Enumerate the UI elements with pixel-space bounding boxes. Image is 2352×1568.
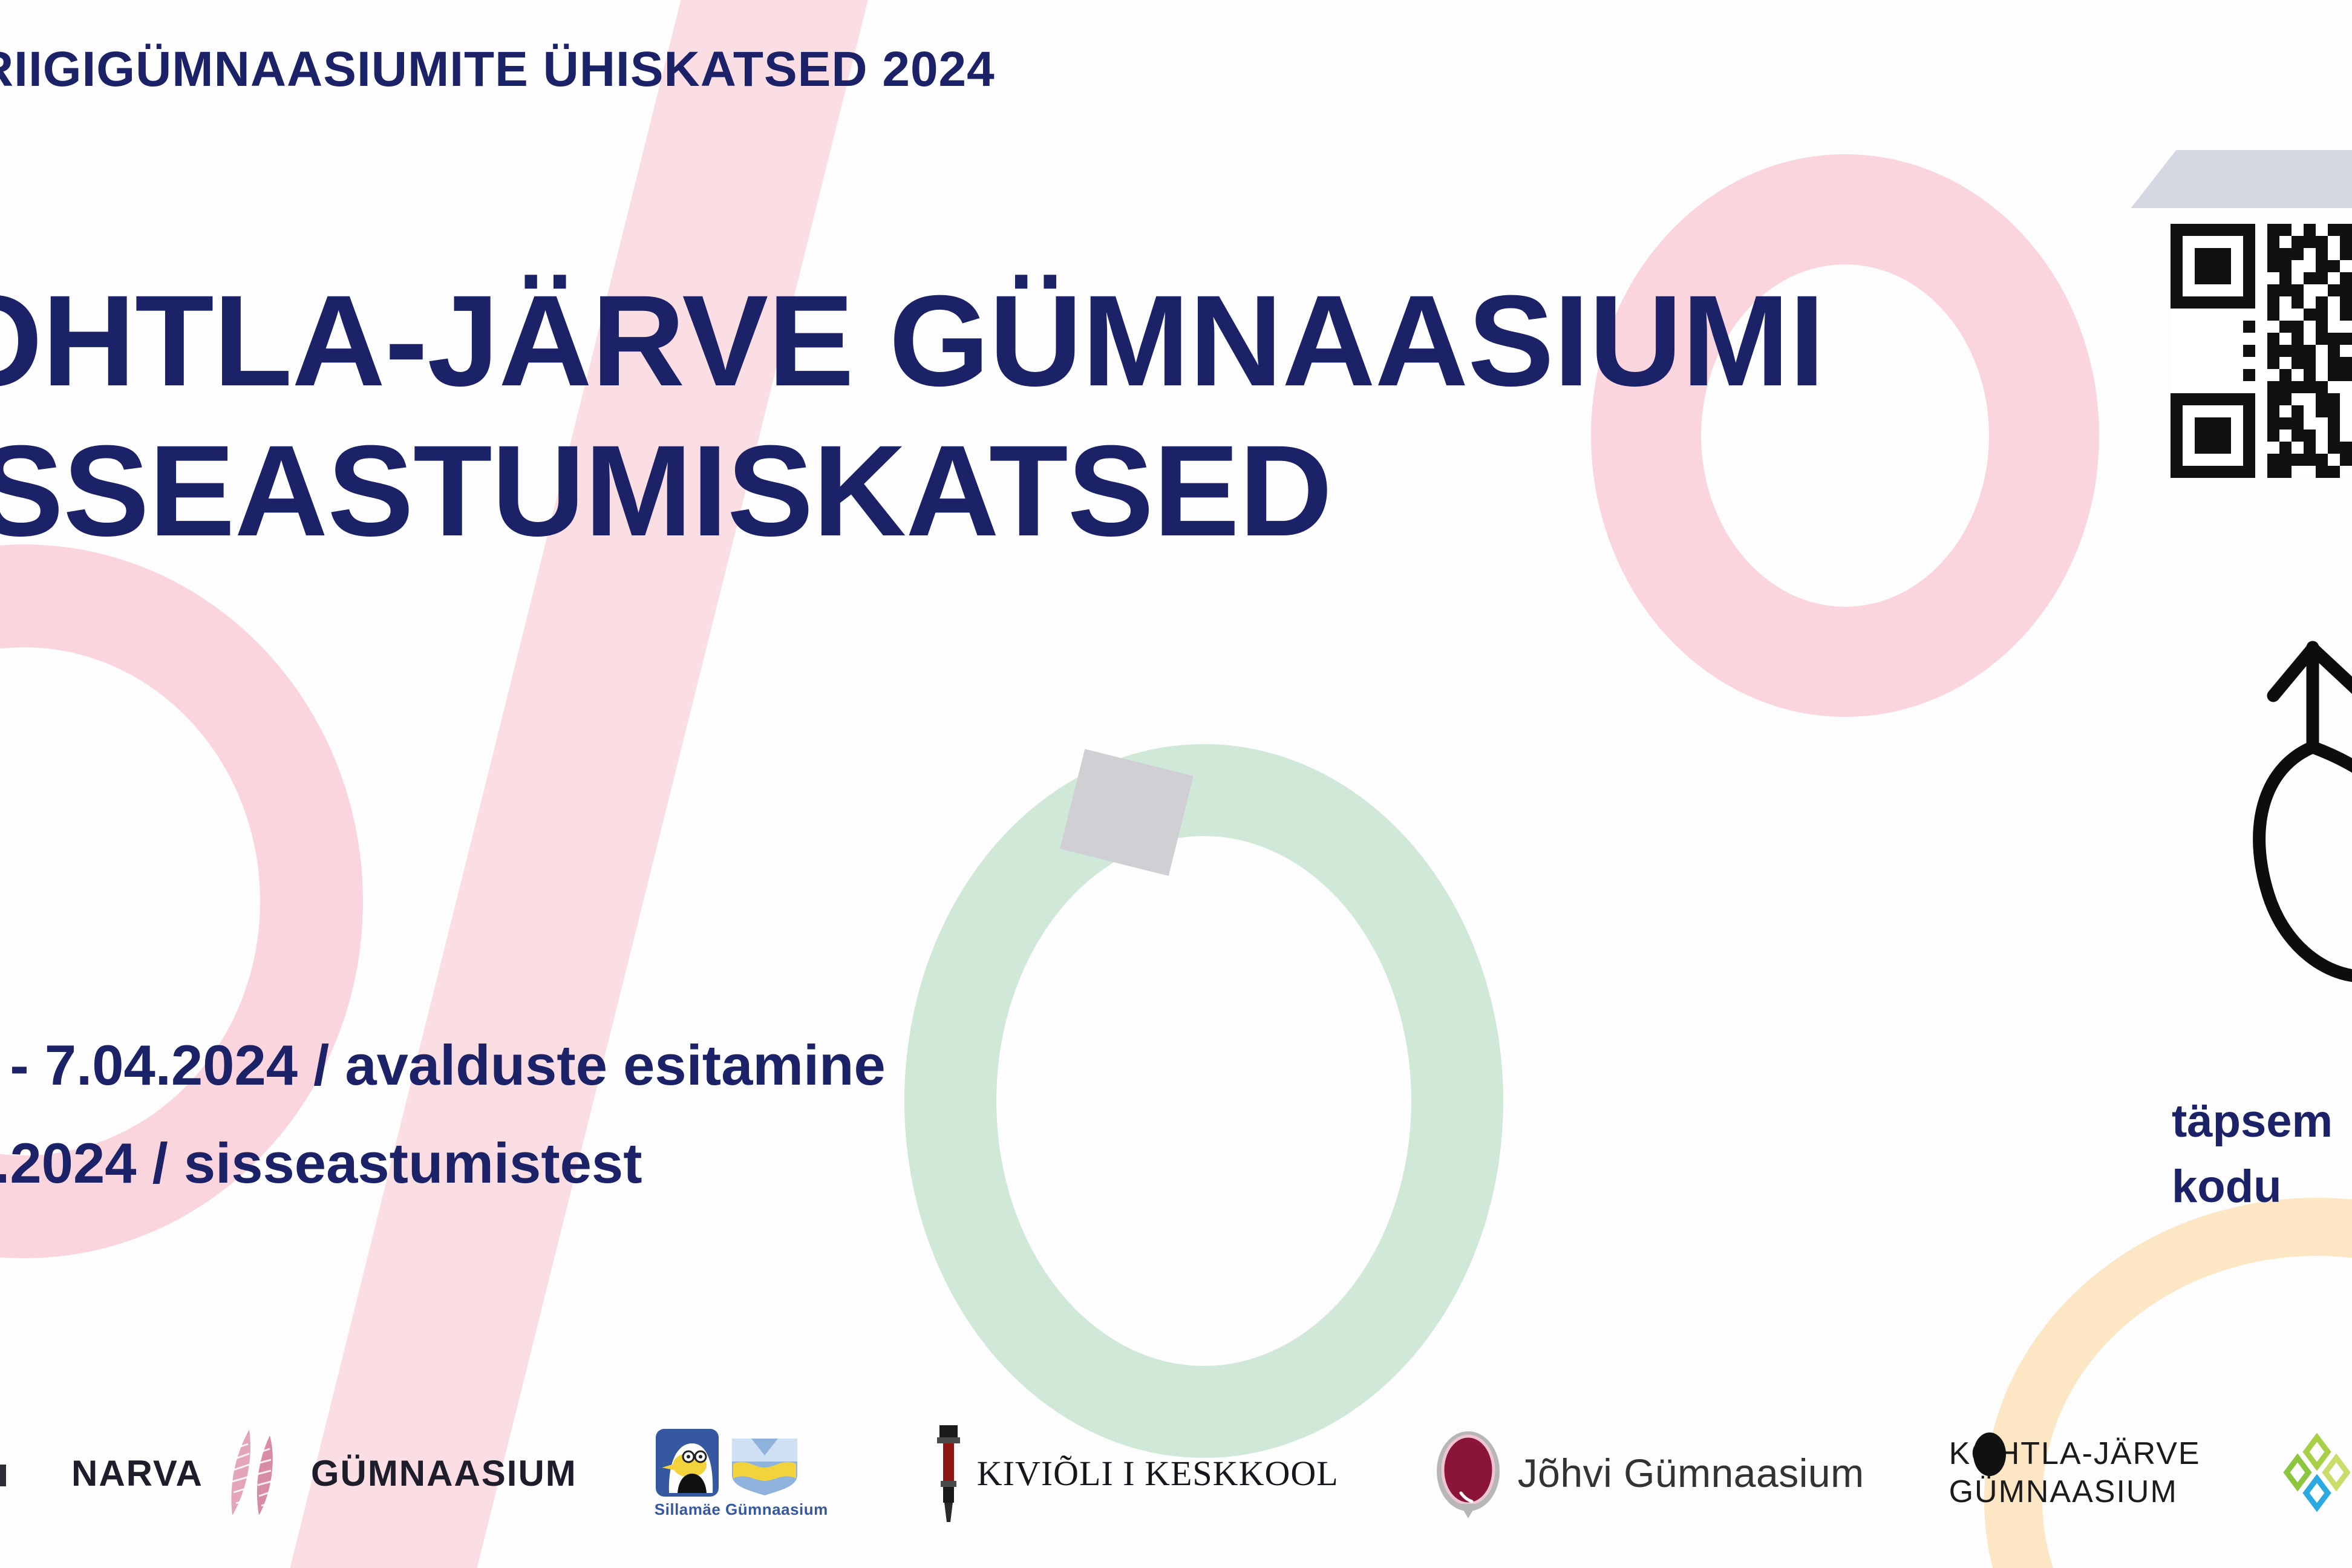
kivioli-i-keskkool-logo: KIVIÕLI I KESKKOOL xyxy=(930,1422,1339,1524)
partner-logo-strip: NARVA GÜMNAASIUM xyxy=(0,1403,2352,1543)
kicker-line: A RIIGIGÜMNAASIUMITE ÜHISKATSED 2024 xyxy=(0,41,995,98)
headline-line-1: OHTLA-JÄRVE GÜMNAASIUMI xyxy=(0,269,1824,413)
narva-logo-text-before: NARVA xyxy=(71,1452,203,1494)
narva-feather-icon xyxy=(212,1425,302,1521)
kivioli-logo-text: KIVIÕLI I KESKKOOL xyxy=(977,1453,1339,1494)
date-line-entrance-test: 4.2024 / sisseastumistest xyxy=(0,1114,886,1212)
sillamae-crest-icon xyxy=(655,1428,800,1499)
cropped-logo-fragment xyxy=(0,1437,11,1509)
kohtla-jarve-oil-shale-icon xyxy=(1973,1432,2006,1476)
rahandusministeerium-logo: Ra Ri xyxy=(2281,1429,2352,1517)
grey-overlap-patch-shape xyxy=(1060,749,1194,876)
johvi-oval-icon xyxy=(1429,1428,1507,1518)
sillamae-logo-text: Sillamäe Gümnaasium xyxy=(655,1500,828,1519)
qr-caption-line-2: kodu xyxy=(2172,1154,2333,1220)
lavender-parallelogram-shape xyxy=(2131,150,2352,208)
narva-gumnaasium-logo: NARVA GÜMNAASIUM xyxy=(71,1425,577,1521)
qr-code-icon[interactable] xyxy=(2171,224,2352,478)
sillamae-logo-line-2: Gümnaasium xyxy=(725,1500,828,1518)
date-line-applications: 3 - 7.04.2024 / avalduste esitamine xyxy=(0,1016,886,1114)
date-block: 3 - 7.04.2024 / avalduste esitamine 4.20… xyxy=(0,1016,886,1212)
narva-logo-text-after: GÜMNAASIUM xyxy=(311,1452,577,1494)
qr-code-svg xyxy=(2171,224,2352,478)
qr-caption: täpsem kodu xyxy=(2172,1089,2333,1220)
kivioli-tower-icon xyxy=(930,1422,967,1524)
hand-drawn-arrow-up-icon xyxy=(2141,611,2352,1034)
page-title: OHTLA-JÄRVE GÜMNAASIUMI ISSEASTUMISKATSE… xyxy=(0,266,1824,566)
pink-diagonal-band-shape xyxy=(225,0,899,1568)
poster-canvas: A RIIGIGÜMNAASIUMITE ÜHISKATSED 2024 OHT… xyxy=(0,0,2352,1568)
qr-caption-line-1: täpsem xyxy=(2172,1089,2333,1154)
cropped-logo-fragment-icon xyxy=(0,1437,11,1509)
johvi-logo-text: Jõhvi Gümnaasium xyxy=(1518,1450,1864,1496)
rahandus-diamond-icon xyxy=(2281,1429,2352,1517)
headline-line-2: ISSEASTUMISKATSED xyxy=(0,416,1824,566)
arrow-svg xyxy=(2141,611,2352,1034)
sillamae-logo-line-1: Sillamäe xyxy=(655,1500,721,1518)
johvi-gumnaasium-logo: Jõhvi Gümnaasium xyxy=(1429,1428,1864,1518)
kohtla-jarve-gumnaasium-logo: KOHTLA-JÄRVE GÜMNAASIUM xyxy=(1949,1435,2201,1512)
green-ring-center-shape xyxy=(904,744,1503,1458)
sillamae-gumnaasium-logo: Sillamäe Gümnaasium xyxy=(655,1428,828,1519)
kohtla-jarve-logo-line-2: GÜMNAASIUM xyxy=(1949,1473,2201,1511)
